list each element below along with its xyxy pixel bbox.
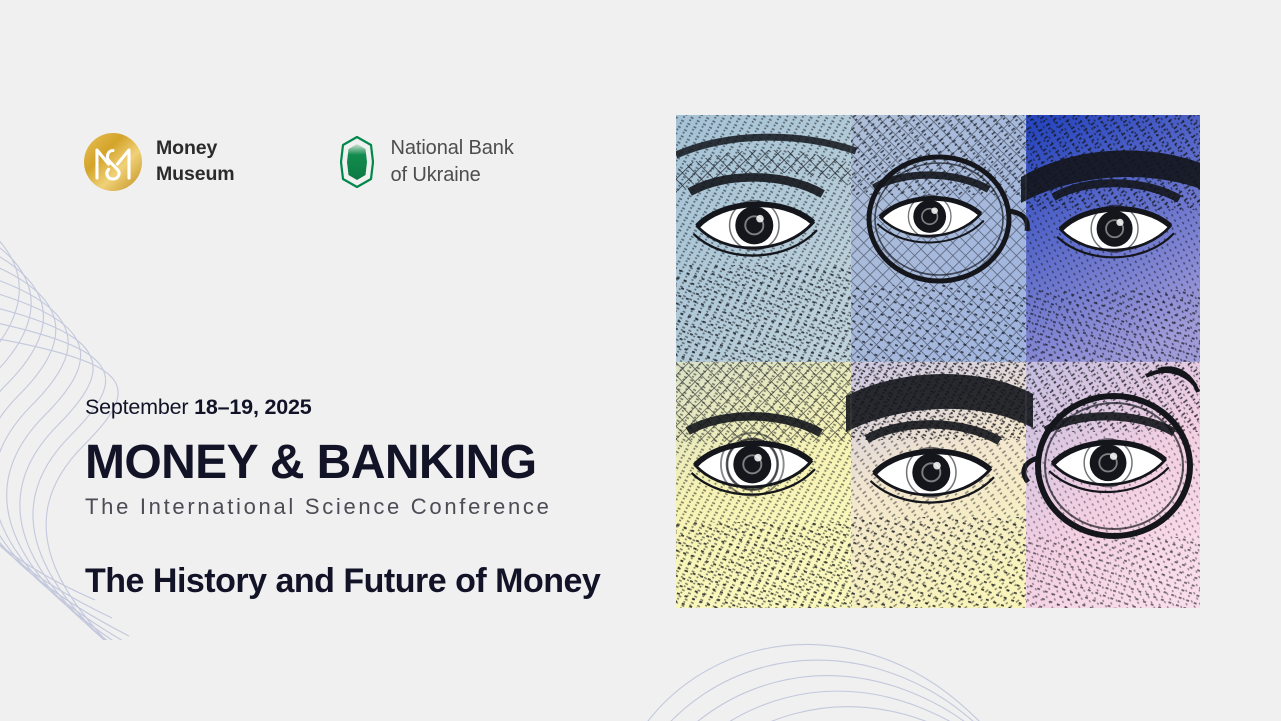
money-museum-logo: Money Museum — [84, 133, 235, 191]
page-title: MONEY & BANKING — [85, 438, 685, 488]
event-tagline: The History and Future of Money — [85, 563, 685, 600]
event-date-prefix: September — [85, 395, 194, 419]
banknote-eyes-artwork — [676, 115, 1200, 608]
event-subtitle: The International Science Conference — [85, 494, 685, 520]
event-text-block: September 18–19, 2025 MONEY & BANKING Th… — [85, 396, 685, 600]
nbu-shield-icon — [340, 136, 374, 188]
money-museum-monogram-icon — [84, 133, 142, 191]
national-bank-label: National Bank of Ukraine — [391, 135, 514, 188]
conference-poster: Money Museum National Bank of Ukraine Se… — [0, 0, 1281, 721]
event-date: September 18–19, 2025 — [85, 396, 685, 420]
national-bank-logo: National Bank of Ukraine — [340, 135, 514, 188]
event-date-range: 18–19, 2025 — [194, 395, 311, 419]
logo-row: Money Museum National Bank of Ukraine — [84, 133, 514, 191]
money-museum-label: Money Museum — [156, 136, 235, 187]
